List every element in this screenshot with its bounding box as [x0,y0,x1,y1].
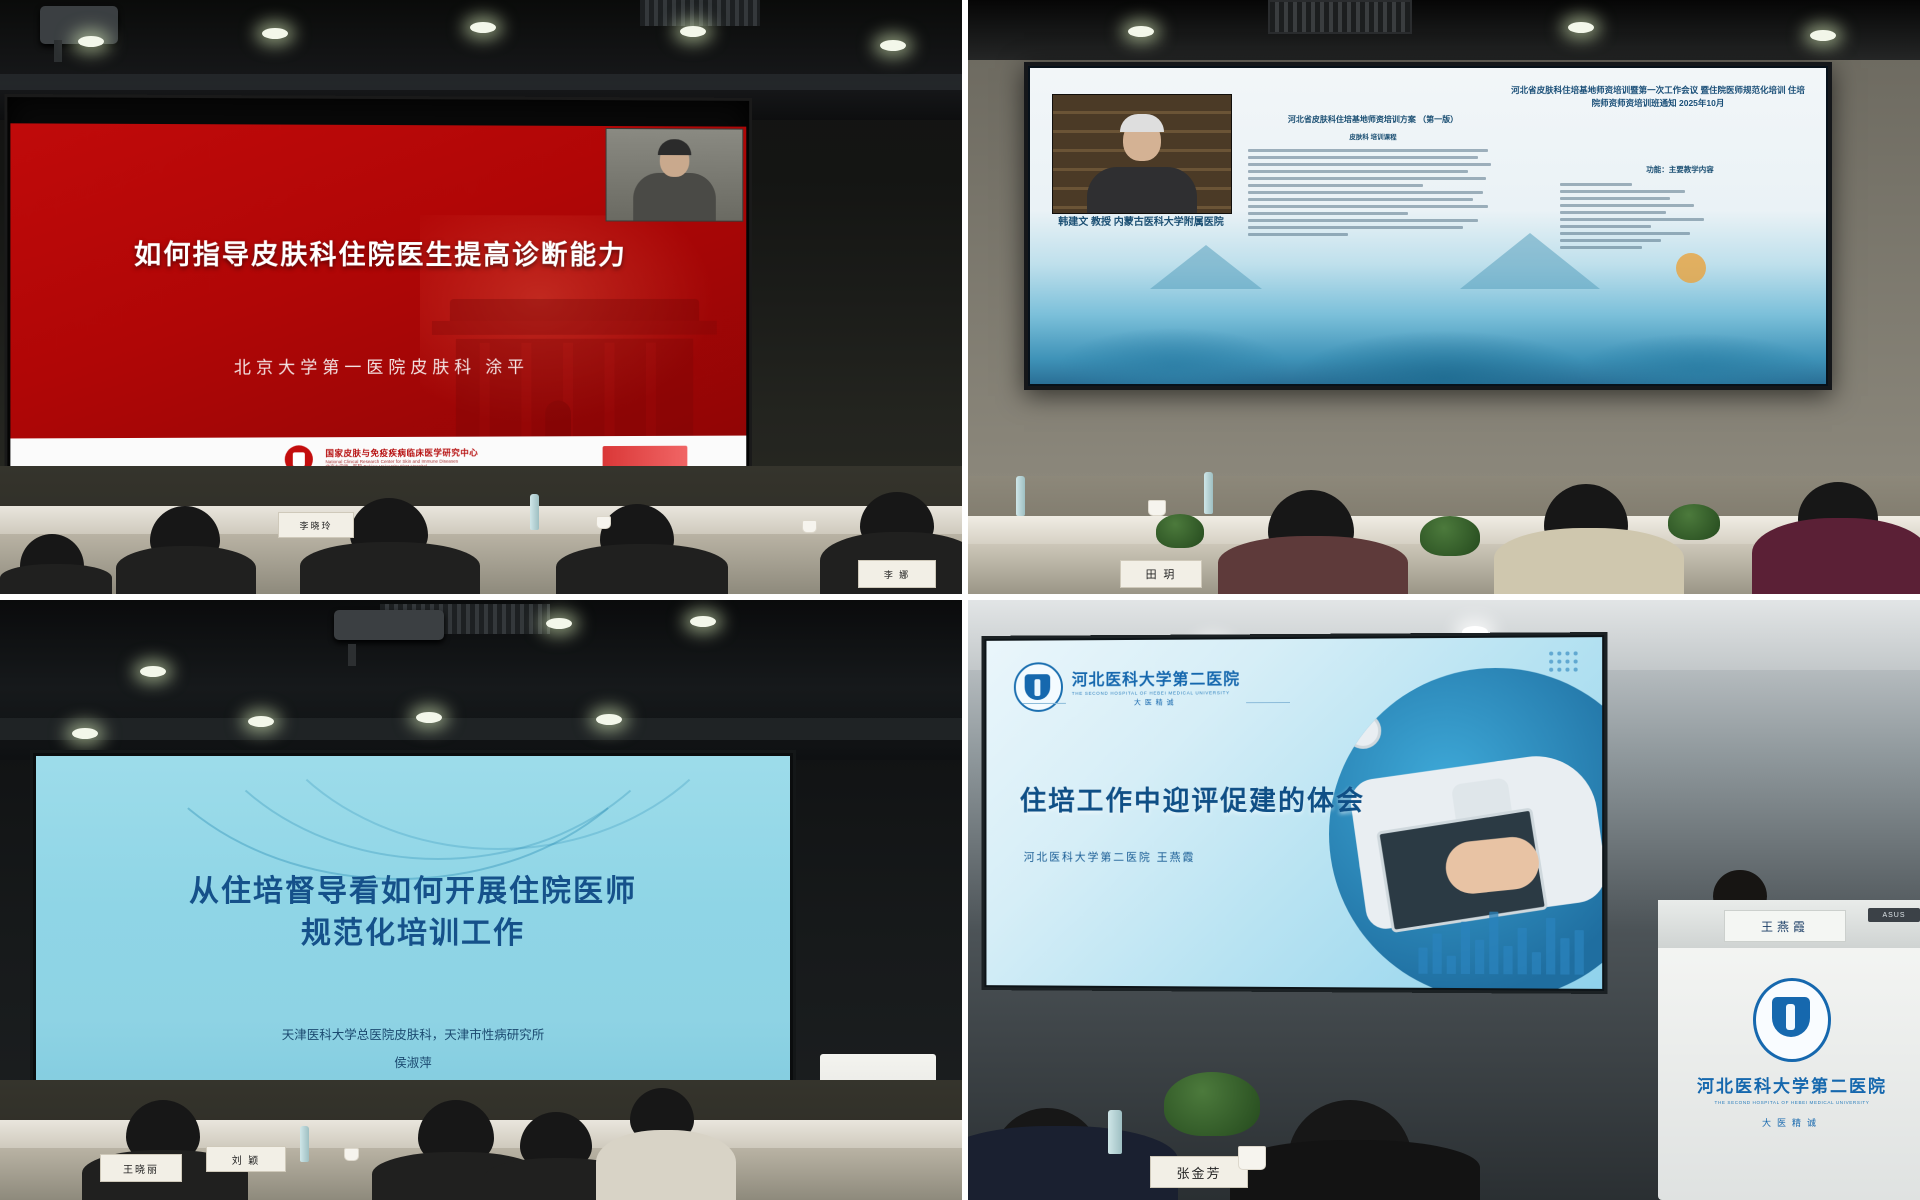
podium-logo-motto: 大医精诚 [1658,1116,1920,1129]
presentation-screen-1: 如何指导皮肤科住院医生提高诊断能力 北京大学第一医院皮肤科 涂平 国家皮肤与免疫… [4,94,752,488]
photo-collage: 如何指导皮肤科住院医生提高诊断能力 北京大学第一医院皮肤科 涂平 国家皮肤与免疫… [0,0,1920,1200]
nameplate: 李 娜 [858,560,936,588]
cup-icon [1238,1146,1266,1170]
water-bottle-icon [300,1126,309,1162]
projector-icon [334,610,444,640]
air-vent-icon [640,0,760,26]
logo-cn: 河北医科大学第二医院 [1072,665,1240,690]
slide-presenter: 侯淑萍 [36,1052,790,1076]
nameplate: 田 玥 [1120,560,1202,588]
slide-blue: 河北医科大学第二医院 THE SECOND HOSPITAL OF HEBEI … [986,637,1602,989]
cup-icon [802,520,817,533]
left-column-subheading: 皮肤科 培训课程 [1248,133,1498,144]
nameplate: 张金芳 [1150,1156,1248,1188]
ceiling-light-icon [248,716,274,727]
water-bottle-icon [1204,472,1213,514]
plant-icon [1164,1072,1260,1136]
hospital-crest-icon [1014,662,1063,712]
logo-en: THE SECOND HOSPITAL OF HEBEI MEDICAL UNI… [1072,690,1240,696]
ceiling-light-icon [140,666,166,677]
cup-icon [1148,500,1166,516]
ceiling-light-icon [596,714,622,725]
logo-motto: 大医精诚 [1072,697,1240,708]
nameplate: 刘 颖 [206,1146,286,1172]
ceiling-light-icon [470,22,496,33]
ceiling-light-icon [78,36,104,47]
ceiling-light-icon [262,28,288,39]
right-column-heading: 功能：主要教学内容 [1560,164,1800,177]
slide-subtitle: 河北医科大学第二医院 王燕霞 [1024,849,1196,865]
decorative-bar-chart [1418,903,1583,974]
audience-shoulders [1752,518,1920,594]
ceiling-light-icon [690,616,716,627]
plant-icon [1156,514,1204,548]
audience-shoulders [1218,536,1408,594]
ceiling-light-icon [546,618,572,629]
panel-conference-landscape-slide: 韩建文 教授 内蒙古医科大学附属医院 河北省皮肤科住培基地师资培训暨第一次工作会… [968,0,1920,600]
ceiling-light-icon [680,26,706,37]
ceiling-light-icon [1128,26,1154,37]
water-bottle-icon [530,494,539,530]
slide-subtitle: 北京大学第一医院皮肤科 涂平 [10,352,746,378]
podium-logo-cn: 河北医科大学第二医院 [1658,1072,1920,1097]
ceiling-beam-1 [0,74,962,90]
podium-4: ASUS 王燕霞 河北医科大学第二医院 THE SECOND HOSPITAL … [1658,900,1920,1200]
presentation-screen-4: 河北医科大学第二医院 THE SECOND HOSPITAL OF HEBEI … [982,632,1608,994]
slide-right-column: 功能：主要教学内容 [1560,164,1800,253]
cup-icon [344,1148,359,1161]
slide-affiliation: 天津医科大学总医院皮肤科，天津市性病研究所 [36,1024,790,1048]
ceiling-beam-3 [0,718,962,740]
ceiling-light-icon [416,712,442,723]
ceiling-light-icon [72,728,98,739]
video-caption: 韩建文 教授 内蒙古医科大学附属医院 [1052,216,1230,231]
audience-shoulders [300,542,480,594]
audience-shoulders [116,546,256,594]
audience-shoulders [556,544,728,594]
left-column-heading: 河北省皮肤科住培基地师资培训方案 （第一版） [1248,114,1498,127]
ceiling-light-icon [1810,30,1836,41]
panel-training-supervision-slide: 从住培督导看如何开展住院医师 规范化培训工作 天津医科大学总医院皮肤科，天津市性… [0,600,968,1200]
water-bottle-icon [1016,476,1025,516]
slide-landscape: 韩建文 教授 内蒙古医科大学附属医院 河北省皮肤科住培基地师资培训暨第一次工作会… [1030,68,1826,384]
plant-icon [1420,516,1480,556]
audience-shoulders [596,1130,736,1200]
audience-shoulders [1494,528,1684,594]
slide-title: 如何指导皮肤科住院医生提高诊断能力 [10,232,746,272]
nameplate: 李晓玲 [278,512,354,538]
hospital-logo: 河北医科大学第二医院 THE SECOND HOSPITAL OF HEBEI … [1014,661,1240,712]
nameplate: 王晓丽 [100,1154,182,1182]
slide-title-line1: 从住培督导看如何开展住院医师 [36,872,790,912]
panel-conference-red-slide: 如何指导皮肤科住院医生提高诊断能力 北京大学第一医院皮肤科 涂平 国家皮肤与免疫… [0,0,968,600]
panel-speaker-at-podium: 河北医科大学第二医院 THE SECOND HOSPITAL OF HEBEI … [968,600,1920,1200]
air-vent-icon [1268,0,1412,34]
audience-shoulders [968,1126,1178,1200]
slide-left-column: 河北省皮肤科住培基地师资培训方案 （第一版） 皮肤科 培训课程 [1248,114,1498,240]
remote-speaker-video-window [606,128,744,222]
slide-title: 住培工作中迎评促建的体会 [1020,779,1365,818]
decorative-dots [1549,651,1578,671]
slide-heading: 河北省皮肤科住培基地师资培训暨第一次工作会议 暨住院医师规范化培训 住培院师资师… [1508,84,1808,110]
monitor-brand-label: ASUS [1868,908,1920,922]
audience-shoulders [0,564,112,594]
slide-title-line2: 规范化培训工作 [36,914,790,954]
ceiling-light-icon [1568,22,1594,33]
plant-icon [1668,504,1720,540]
audience-shoulders [1230,1140,1480,1200]
presentation-screen-2: 韩建文 教授 内蒙古医科大学附属医院 河北省皮肤科住培基地师资培训暨第一次工作会… [1024,62,1832,390]
water-bottle-icon [1108,1110,1122,1154]
remote-speaker-video-window [1052,94,1232,214]
podium-logo-en: THE SECOND HOSPITAL OF HEBEI MEDICAL UNI… [1658,1100,1920,1105]
cup-icon [596,516,611,529]
podium-nameplate: 王燕霞 [1724,910,1846,942]
slide-light-blue: 从住培督导看如何开展住院医师 规范化培训工作 天津医科大学总医院皮肤科，天津市性… [36,756,790,1132]
ceiling-light-icon [880,40,906,51]
hospital-crest-icon [1753,978,1831,1062]
